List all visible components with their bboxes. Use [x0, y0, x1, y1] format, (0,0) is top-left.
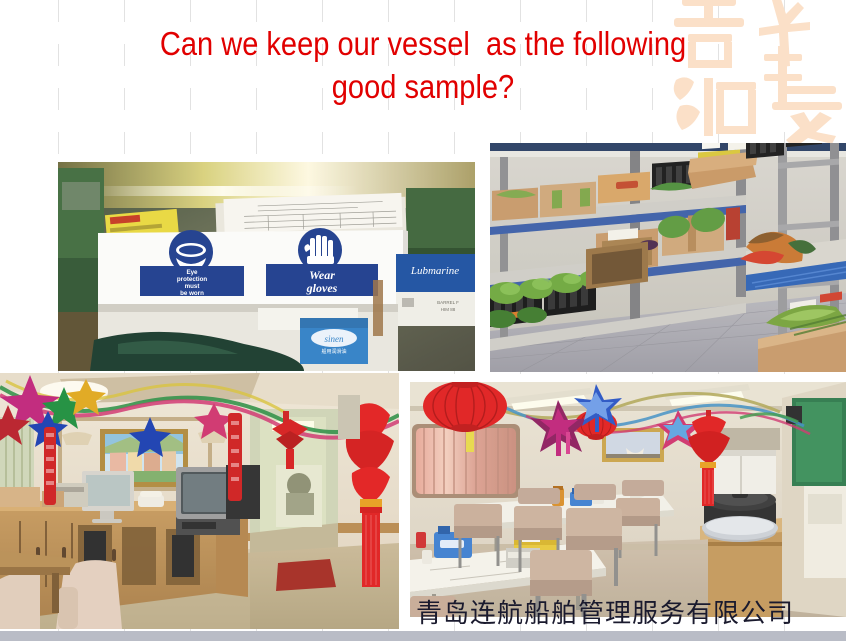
company-name-footer: 青岛连航船舶管理服务有限公司 — [416, 598, 794, 630]
presentation-slide: Can we keep our vessel as the following … — [0, 0, 846, 641]
crew-mess-room-photo — [410, 382, 846, 617]
crew-lounge-photo — [0, 373, 399, 629]
provision-store-vegetables-photo — [490, 143, 846, 372]
ship-store-safety-signs-photo: Eye protection must be worn Wea — [58, 162, 475, 371]
title-line-2: good sample? — [51, 65, 795, 108]
title-line-1: Can we keep our vessel as the following — [51, 22, 795, 65]
bottom-bar — [0, 631, 846, 641]
slide-title: Can we keep our vessel as the following … — [0, 22, 846, 108]
